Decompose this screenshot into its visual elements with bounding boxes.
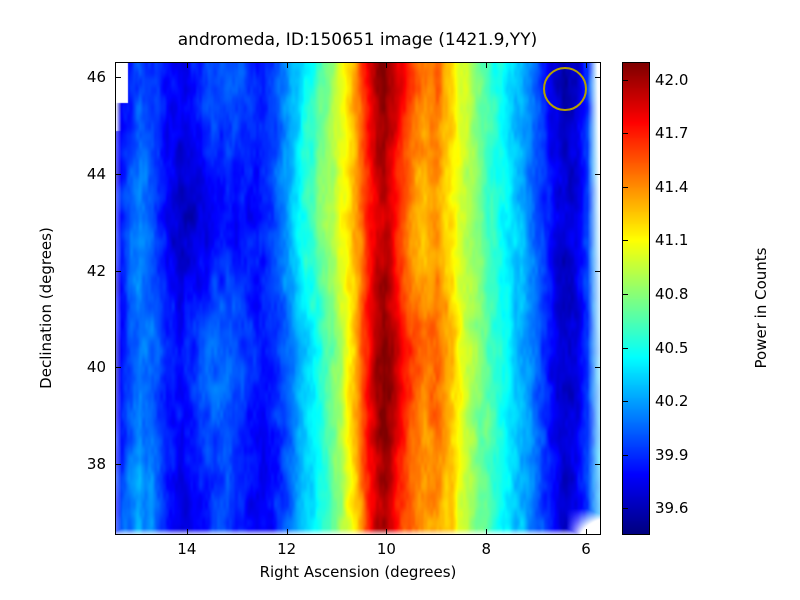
heatmap-image[interactable] xyxy=(116,63,600,534)
colorbar-tick xyxy=(623,401,628,402)
colorbar-tick-label: 41.7 xyxy=(655,124,688,142)
x-tick-bottom xyxy=(486,529,487,534)
colorbar-tick xyxy=(623,133,628,134)
colorbar-tick xyxy=(623,508,628,509)
colorbar-tick-label: 40.2 xyxy=(655,392,688,410)
colorbar-tick-label: 39.6 xyxy=(655,499,688,517)
x-tick-label: 8 xyxy=(481,540,491,558)
colorbar-tick-label: 39.9 xyxy=(655,446,688,464)
colorbar-tick xyxy=(623,294,628,295)
x-tick-label: 6 xyxy=(581,540,591,558)
colorbar-title: Power in Counts xyxy=(752,168,770,448)
y-tick-right xyxy=(595,271,600,272)
y-tick-right xyxy=(595,77,600,78)
x-tick-bottom xyxy=(586,529,587,534)
y-tick-right xyxy=(595,464,600,465)
y-tick-label: 40 xyxy=(87,358,106,376)
colorbar-tick-label: 41.1 xyxy=(655,231,688,249)
y-tick-left xyxy=(116,367,121,368)
x-tick-top xyxy=(586,63,587,68)
colorbar-tick-label: 42.0 xyxy=(655,71,688,89)
colorbar-tick xyxy=(623,80,628,81)
colorbar-tick-label: 41.4 xyxy=(655,178,688,196)
y-tick-label: 38 xyxy=(87,455,106,473)
figure-root: andromeda, ID:150651 image (1421.9,YY) 1… xyxy=(0,0,800,600)
y-tick-left xyxy=(116,174,121,175)
x-tick-top xyxy=(386,63,387,68)
page-title: andromeda, ID:150651 image (1421.9,YY) xyxy=(0,30,715,50)
heatmap-axes[interactable] xyxy=(115,62,601,535)
y-tick-left xyxy=(116,464,121,465)
colorbar-tick xyxy=(623,455,628,456)
x-tick-bottom xyxy=(287,529,288,534)
y-tick-label: 44 xyxy=(87,165,106,183)
x-tick-label: 12 xyxy=(277,540,296,558)
x-tick-top xyxy=(287,63,288,68)
y-tick-label: 42 xyxy=(87,262,106,280)
y-tick-right xyxy=(595,174,600,175)
colorbar-tick-label: 40.5 xyxy=(655,339,688,357)
x-tick-label: 14 xyxy=(177,540,196,558)
x-tick-label: 10 xyxy=(377,540,396,558)
colorbar-tick xyxy=(623,240,628,241)
x-axis-title: Right Ascension (degrees) xyxy=(115,563,601,581)
x-tick-bottom xyxy=(386,529,387,534)
colorbar-tick xyxy=(623,348,628,349)
y-tick-label: 46 xyxy=(87,68,106,86)
x-tick-top xyxy=(187,63,188,68)
y-tick-left xyxy=(116,271,121,272)
y-tick-left xyxy=(116,77,121,78)
y-tick-right xyxy=(595,367,600,368)
y-axis-title: Declination (degrees) xyxy=(37,168,55,448)
colorbar-tick-label: 40.8 xyxy=(655,285,688,303)
x-tick-bottom xyxy=(187,529,188,534)
colorbar-tick xyxy=(623,187,628,188)
x-tick-top xyxy=(486,63,487,68)
